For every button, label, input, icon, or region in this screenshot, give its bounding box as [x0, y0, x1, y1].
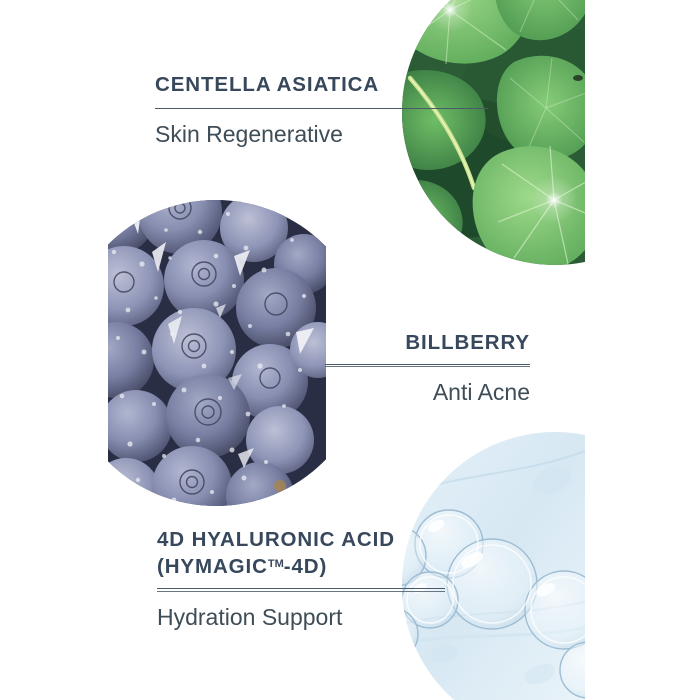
ingredient-benefit-billberry: Anti Acne	[325, 377, 530, 407]
divider-hyaluronic	[157, 591, 445, 592]
ingredient-block-hyaluronic: 4D HYALURONIC ACID (HYMAGICTM-4D) Hydrat…	[157, 527, 445, 632]
ingredient-title-hyaluronic-line2: (HYMAGICTM-4D)	[157, 552, 445, 579]
divider-billberry-extension	[325, 364, 530, 365]
blueberries-photo	[108, 200, 326, 506]
ingredient-benefit-hyaluronic: Hydration Support	[157, 602, 445, 632]
ingredient-block-billberry: BILLBERRY Anti Acne	[325, 330, 530, 407]
divider-hyaluronic-extension	[157, 588, 445, 589]
hymagic-suffix: -4D)	[284, 555, 327, 578]
ingredient-title-billberry: BILLBERRY	[325, 330, 530, 355]
ingredient-title-centella: CENTELLA ASIATICA	[155, 72, 488, 97]
ingredient-benefit-centella: Skin Regenerative	[155, 119, 488, 149]
hymagic-label: (HYMAGIC	[157, 555, 268, 578]
divider-centella-extension	[155, 108, 488, 109]
ingredient-title-hyaluronic-line1: 4D HYALURONIC ACID	[157, 527, 445, 552]
ingredient-block-centella: CENTELLA ASIATICA Skin Regenerative	[155, 72, 488, 149]
divider-billberry	[325, 366, 530, 367]
trademark-symbol: TM	[268, 558, 284, 570]
ingredient-infographic: CENTELLA ASIATICA Skin Regenerative BILL…	[0, 0, 700, 700]
